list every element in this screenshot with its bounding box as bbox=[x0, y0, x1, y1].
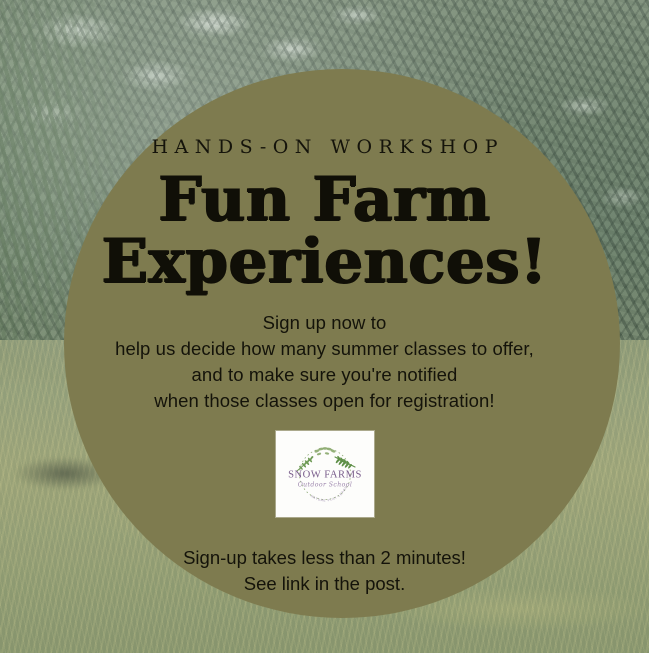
snow-farms-logo: SNOW FARMS Outdoor School NATURE PLAY LE… bbox=[283, 437, 367, 511]
logo-brand-text: SNOW FARMS bbox=[288, 469, 362, 480]
footer-line-1: Sign-up takes less than 2 minutes! bbox=[183, 545, 466, 572]
poster-content: HANDS-ON WORKSHOP Fun Farm Experiences! … bbox=[0, 0, 649, 653]
logo-card: SNOW FARMS Outdoor School NATURE PLAY LE… bbox=[276, 431, 374, 517]
headline-line-1: Fun Farm bbox=[102, 170, 548, 230]
social-media-poster: HANDS-ON WORKSHOP Fun Farm Experiences! … bbox=[0, 0, 649, 653]
headline-line-2: Experiences! bbox=[102, 232, 548, 292]
eyebrow-label: HANDS-ON WORKSHOP bbox=[145, 136, 504, 158]
logo-wreath-icon: SNOW FARMS Outdoor School NATURE PLAY LE… bbox=[283, 437, 367, 511]
body-line-2: help us decide how many summer classes t… bbox=[115, 336, 534, 362]
body-copy: Sign up now to help us decide how many s… bbox=[115, 310, 534, 415]
page-title: Fun Farm Experiences! bbox=[102, 170, 548, 292]
body-line-1: Sign up now to bbox=[115, 310, 534, 336]
footer-line-2: See link in the post. bbox=[183, 571, 466, 598]
body-line-4: when those classes open for registration… bbox=[115, 388, 534, 414]
body-line-3: and to make sure you're notified bbox=[115, 362, 534, 388]
footer-copy: Sign-up takes less than 2 minutes! See l… bbox=[183, 545, 466, 599]
